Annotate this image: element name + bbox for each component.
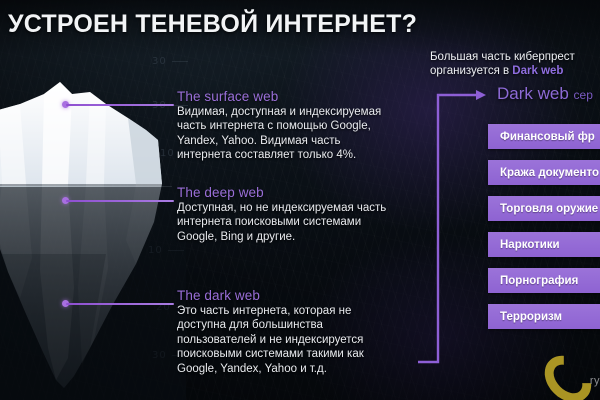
services-title: Dark web сер — [497, 84, 593, 104]
callout-text-block: The dark web Это часть интернета, котора… — [177, 288, 392, 376]
intro-line-2-prefix: организуется в — [430, 65, 512, 77]
callout-body: Доступная, но не индексируемая часть инт… — [177, 201, 392, 244]
service-label: Терроризм — [488, 311, 562, 323]
callout-text-block: The deep web Доступная, но не индексируе… — [177, 185, 392, 244]
services-title-sub: сер — [574, 88, 593, 102]
page-title: УСТРОЕН ТЕНЕВОЙ ИНТЕРНЕТ? — [8, 10, 417, 39]
iceberg-above-water — [0, 82, 162, 184]
watermark-text: ry — [590, 375, 600, 387]
service-label: Кража документо — [488, 167, 599, 179]
iceberg-svg — [0, 58, 186, 398]
service-item-document-theft[interactable]: Кража документо — [488, 160, 600, 185]
callout-body: Это часть интернета, которая не доступна… — [177, 304, 392, 376]
connector-bar — [66, 303, 174, 306]
waterline — [0, 186, 172, 187]
connector-bar — [66, 200, 174, 203]
callout-body: Видимая, доступная и индексируемая часть… — [177, 105, 392, 163]
intro-paragraph: Большая часть киберпрест организуется в … — [430, 50, 600, 78]
service-item-pornography[interactable]: Порнография — [488, 268, 600, 293]
callout-heading: The surface web — [177, 89, 392, 104]
service-item-financial-fraud[interactable]: Финансовый фр — [488, 124, 600, 149]
intro-highlight-darkweb: Dark web — [512, 65, 563, 77]
watermark-logo: ry — [548, 357, 600, 400]
service-label: Торговля оружие — [488, 203, 598, 215]
callout-heading: The deep web — [177, 185, 392, 200]
callout-text-block: The surface web Видимая, доступная и инд… — [177, 89, 392, 163]
services-list: Финансовый фр Кража документо Торговля о… — [488, 124, 600, 340]
connector-bar — [66, 104, 174, 107]
connector-line — [62, 196, 174, 205]
iceberg-illustration — [0, 58, 186, 398]
iceberg-below-water — [0, 184, 162, 388]
service-item-terrorism[interactable]: Терроризм — [488, 304, 600, 329]
infographic-canvas: 30 30 10 10 20 30 — [0, 0, 600, 400]
intro-line-1: Большая часть киберпрест — [430, 51, 575, 63]
service-item-drugs[interactable]: Наркотики — [488, 232, 600, 257]
services-title-main: Dark web — [497, 84, 574, 103]
service-label: Финансовый фр — [488, 131, 595, 143]
service-label: Наркотики — [488, 239, 560, 251]
service-item-weapons-trade[interactable]: Торговля оружие — [488, 196, 600, 221]
callout-heading: The dark web — [177, 288, 392, 303]
bracket-arrow-svg — [418, 90, 498, 370]
connector-line — [62, 100, 174, 109]
connector-line — [62, 299, 174, 308]
service-label: Порнография — [488, 275, 578, 287]
bracket-arrow — [418, 90, 498, 370]
